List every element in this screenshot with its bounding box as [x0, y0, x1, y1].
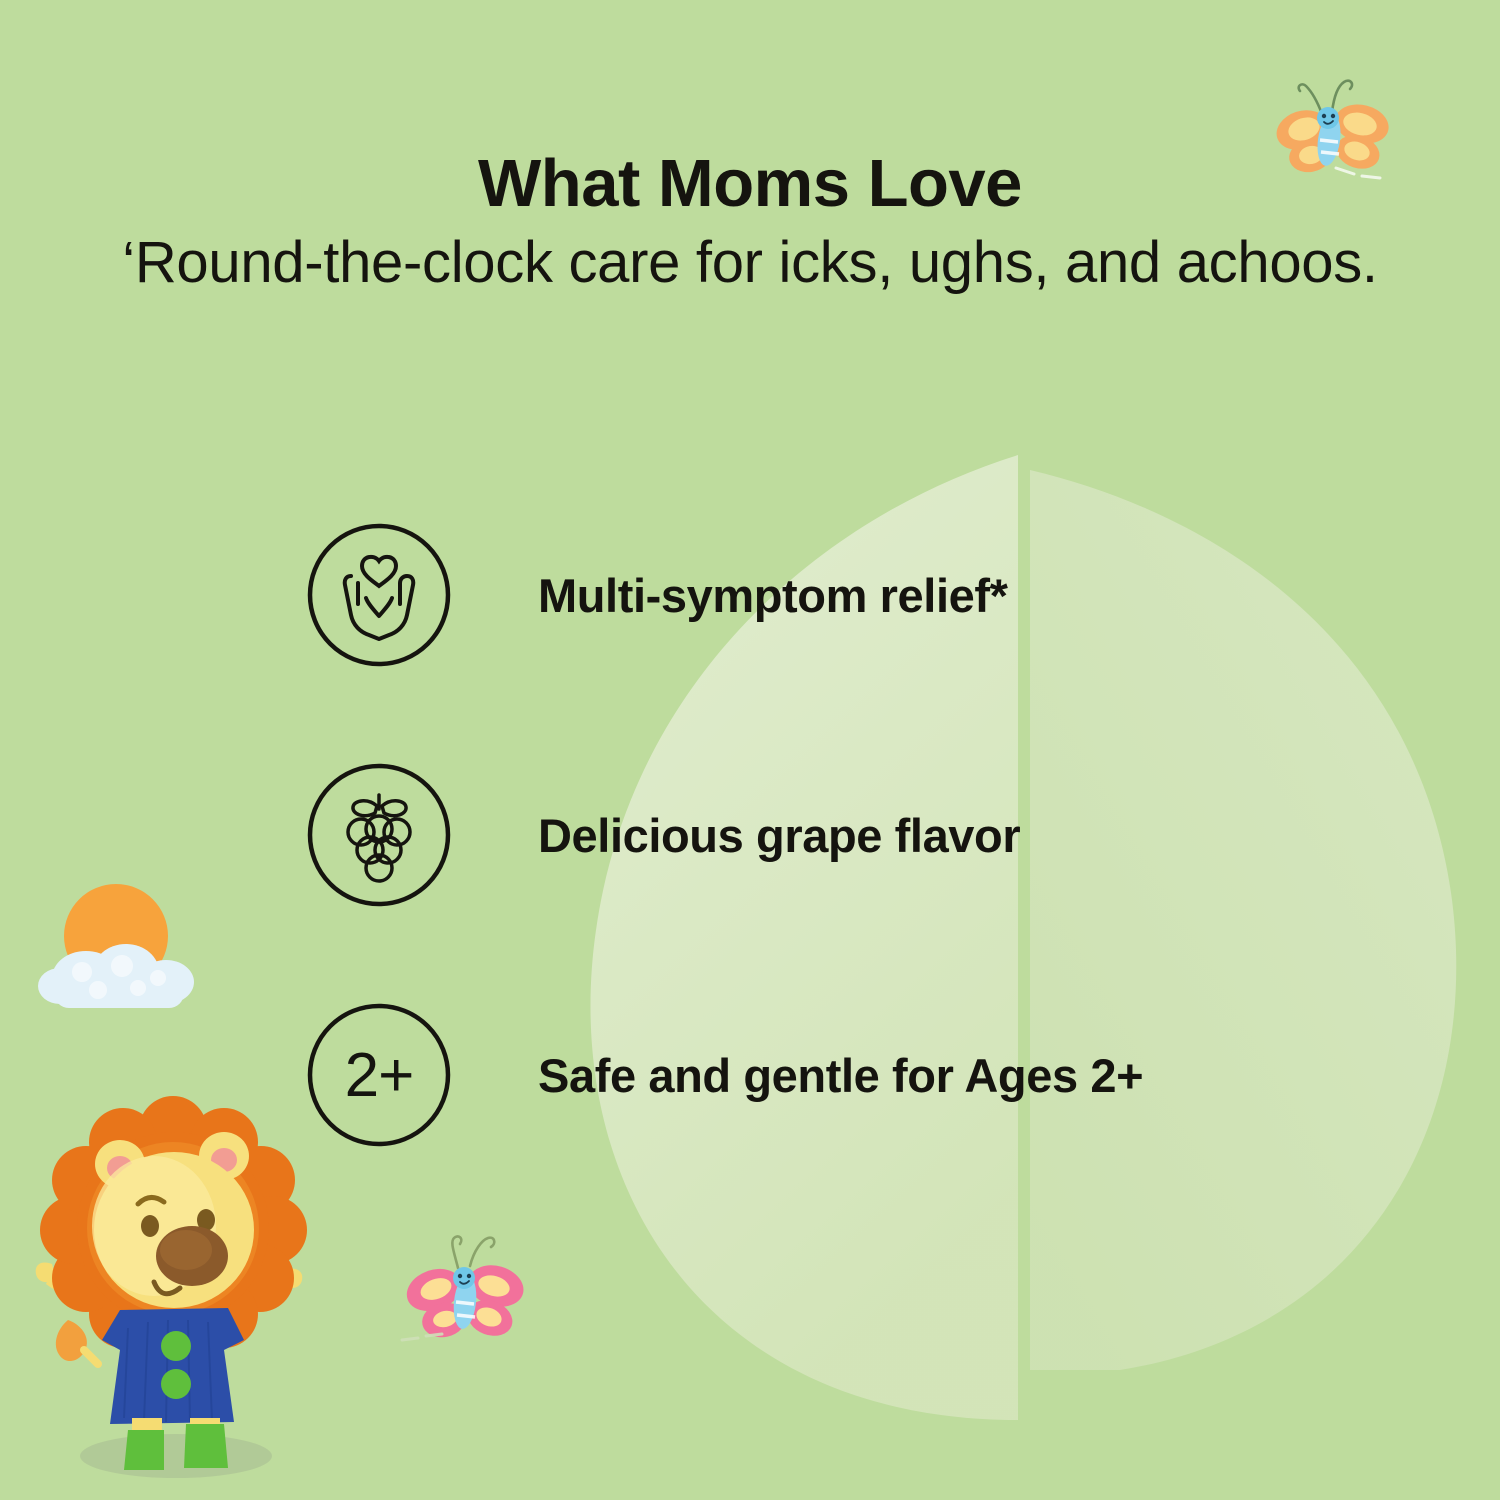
butterfly-orange-icon: [1262, 68, 1412, 193]
promo-image: What Moms Love ‘Round-the-clock care for…: [0, 0, 1500, 1500]
lion-mascot-illustration: [28, 1078, 318, 1493]
sun-cloud-icon: [38, 878, 218, 1033]
page-title: What Moms Love: [120, 148, 1380, 219]
age-badge-label: 2+: [306, 1002, 452, 1148]
hands-holding-heart-icon: [306, 522, 452, 668]
feature-label: Delicious grape flavor: [538, 808, 1020, 863]
age-2-plus-icon: 2+: [306, 1002, 452, 1148]
grapes-icon: [306, 762, 452, 908]
page-subtitle: ‘Round-the-clock care for icks, ughs, an…: [120, 229, 1380, 296]
feature-label: Multi-symptom relief*: [538, 568, 1008, 623]
feature-list: Multi-symptom relief* Delicious grape fl…: [306, 522, 1406, 1148]
feature-item-grape-flavor: Delicious grape flavor: [306, 762, 1406, 908]
feature-label: Safe and gentle for Ages 2+: [538, 1048, 1143, 1103]
feature-item-age-safety: 2+ Safe and gentle for Ages 2+: [306, 1002, 1406, 1148]
feature-item-multi-symptom: Multi-symptom relief*: [306, 522, 1406, 668]
butterfly-pink-icon: [392, 1228, 542, 1363]
